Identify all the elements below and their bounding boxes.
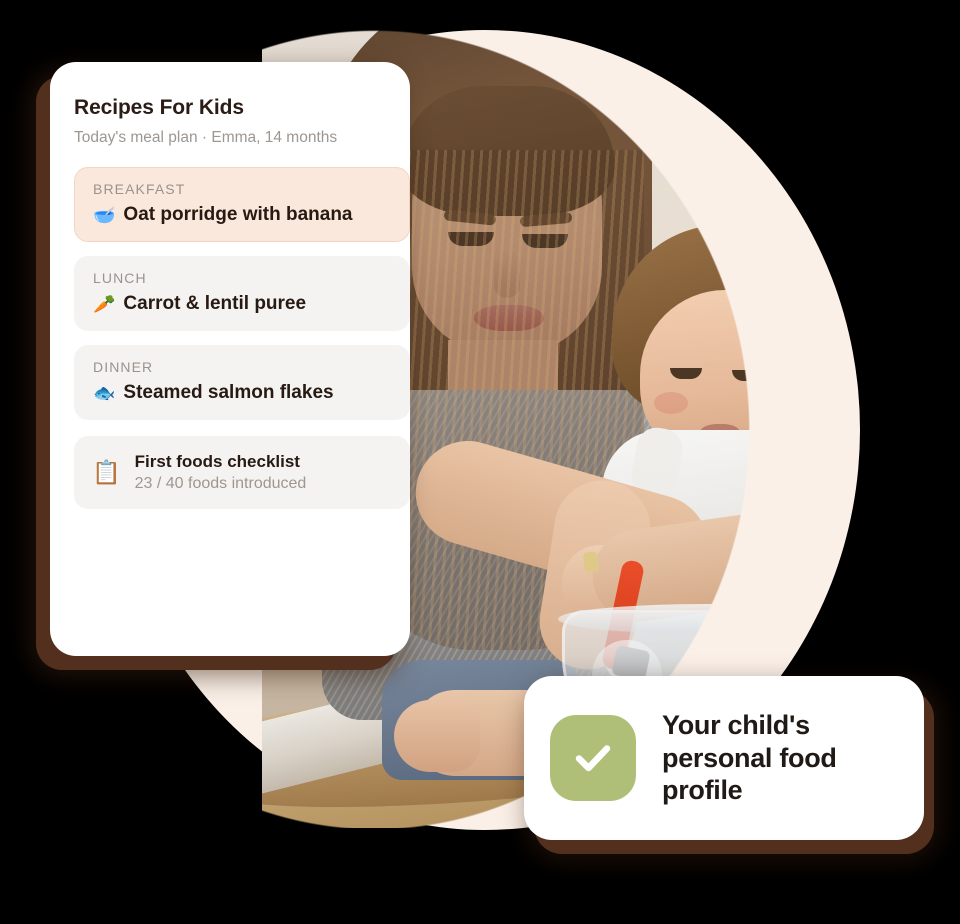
- meal-plan-panel: Recipes For Kids Today's meal plan · Emm…: [50, 62, 410, 656]
- carrot-icon: 🥕: [93, 295, 115, 313]
- composition-stage: Recipes For Kids Today's meal plan · Emm…: [0, 0, 960, 924]
- clipboard-icon: 📋: [92, 461, 121, 484]
- meal-card-breakfast[interactable]: BREAKFAST 🥣 Oat porridge with banana: [74, 167, 410, 242]
- badge-label: Your child's personal food profile: [662, 709, 898, 808]
- first-foods-checklist-row[interactable]: 📋 First foods checklist 23 / 40 foods in…: [74, 436, 410, 509]
- checklist-text-block: First foods checklist 23 / 40 foods intr…: [135, 452, 307, 493]
- page-subtitle: Today's meal plan · Emma, 14 months: [74, 129, 386, 147]
- meal-name-dinner-text: Steamed salmon flakes: [123, 382, 333, 404]
- checklist-title: First foods checklist: [135, 452, 307, 472]
- meal-label-lunch: LUNCH: [93, 270, 391, 286]
- checklist-progress: 23 / 40 foods introduced: [135, 475, 307, 493]
- food-profile-badge[interactable]: Your child's personal food profile: [524, 676, 924, 840]
- meal-name-breakfast: 🥣 Oat porridge with banana: [93, 204, 391, 226]
- meal-label-breakfast: BREAKFAST: [93, 181, 391, 197]
- page-title: Recipes For Kids: [74, 96, 386, 120]
- meal-name-breakfast-text: Oat porridge with banana: [123, 204, 352, 226]
- meal-name-lunch-text: Carrot & lentil puree: [123, 293, 306, 315]
- fish-icon: 🐟: [93, 384, 115, 402]
- check-icon: [550, 715, 636, 801]
- bowl-with-spoon-icon: 🥣: [93, 206, 115, 224]
- meal-card-lunch[interactable]: LUNCH 🥕 Carrot & lentil puree: [74, 256, 410, 331]
- meal-name-lunch: 🥕 Carrot & lentil puree: [93, 293, 391, 315]
- meal-label-dinner: DINNER: [93, 359, 391, 375]
- meal-card-dinner[interactable]: DINNER 🐟 Steamed salmon flakes: [74, 345, 410, 420]
- meal-name-dinner: 🐟 Steamed salmon flakes: [93, 382, 391, 404]
